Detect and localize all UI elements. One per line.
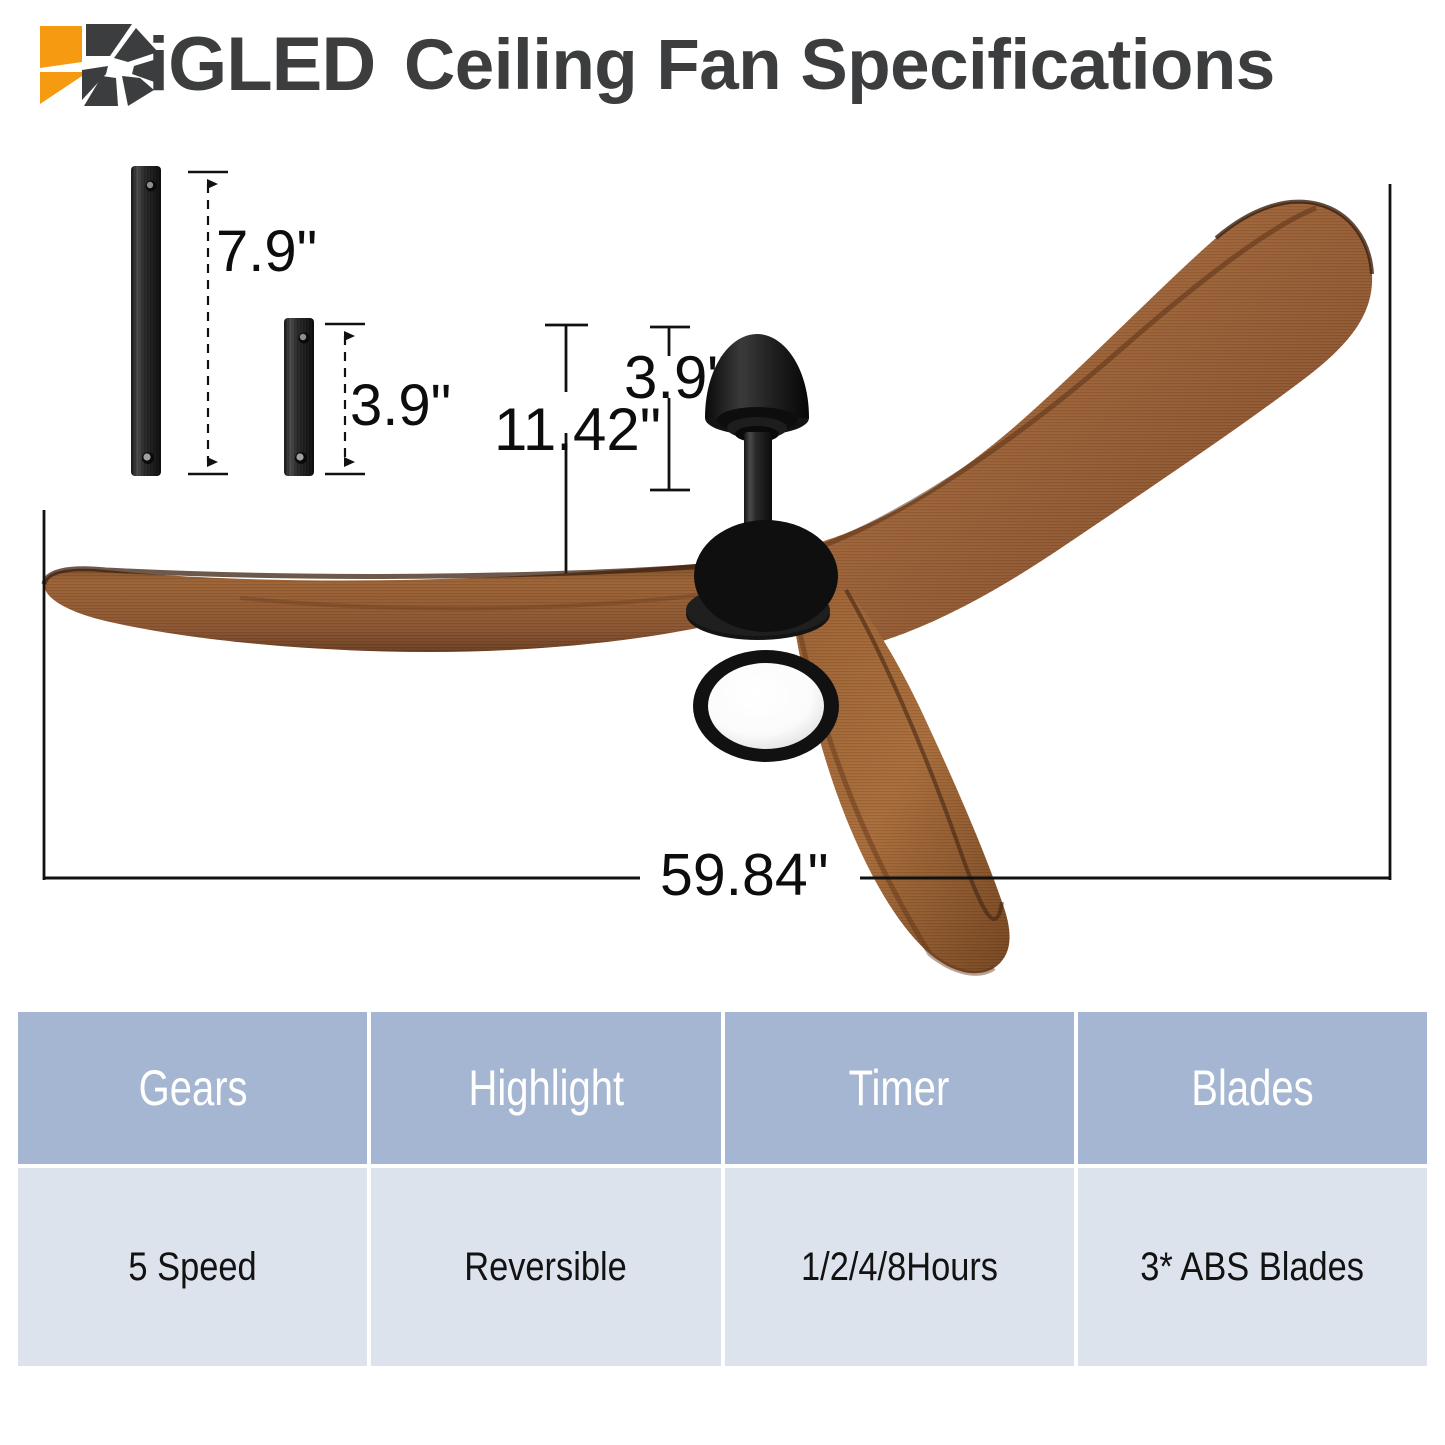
specification-table: Gears 5 Speed Highlight Reversible Timer… <box>18 1012 1427 1370</box>
spec-column-blades: Blades 3* ABS Blades <box>1078 1012 1427 1370</box>
fan-blade-left <box>44 558 760 652</box>
fan-blade-lower <box>790 590 1010 973</box>
blade-span-label: 59.84" <box>660 842 829 908</box>
fan-led-light <box>693 650 839 762</box>
spec-header-blades: Blades <box>1078 1012 1427 1164</box>
spec-value-gears: 5 Speed <box>18 1168 367 1366</box>
spec-header-highlight: Highlight <box>371 1012 720 1164</box>
spec-column-gears: Gears 5 Speed <box>18 1012 367 1370</box>
spec-value-blades-label: 3* ABS Blades <box>1140 1247 1364 1287</box>
spec-value-highlight-label: Reversible <box>465 1247 628 1287</box>
downrod-short <box>284 318 314 476</box>
brand-name: iGLED <box>148 22 375 107</box>
spec-header-highlight-label: Highlight <box>468 1063 624 1113</box>
spec-header-timer-label: Timer <box>849 1063 950 1113</box>
page-header: iGLED Ceiling Fan Specifications <box>0 0 1445 128</box>
downrod-short-label: 3.9" <box>350 373 451 438</box>
spec-column-highlight: Highlight Reversible <box>371 1012 720 1370</box>
fan-blade-upper-right <box>800 202 1372 648</box>
spec-header-gears: Gears <box>18 1012 367 1164</box>
downrod-long <box>131 166 161 476</box>
spec-value-timer-label: 1/2/4/8Hours <box>801 1247 998 1287</box>
spec-column-timer: Timer 1/2/4/8Hours <box>725 1012 1074 1370</box>
dimension-downrod-short: 3.9" <box>325 324 451 474</box>
spec-value-highlight: Reversible <box>371 1168 720 1366</box>
downrod-long-label: 7.9" <box>216 219 317 284</box>
fan-light-kit <box>694 520 838 632</box>
spec-value-gears-label: 5 Speed <box>129 1247 257 1287</box>
spec-value-blades: 3* ABS Blades <box>1078 1168 1427 1366</box>
fan-dimension-diagram: 7.9" 3.9" 11.42" 3.9" <box>0 128 1445 988</box>
spec-header-timer: Timer <box>725 1012 1074 1164</box>
page-title: Ceiling Fan Specifications <box>404 24 1275 108</box>
spec-value-timer: 1/2/4/8Hours <box>725 1168 1074 1366</box>
spec-header-gears-label: Gears <box>138 1063 247 1113</box>
spec-header-blades-label: Blades <box>1191 1063 1313 1113</box>
